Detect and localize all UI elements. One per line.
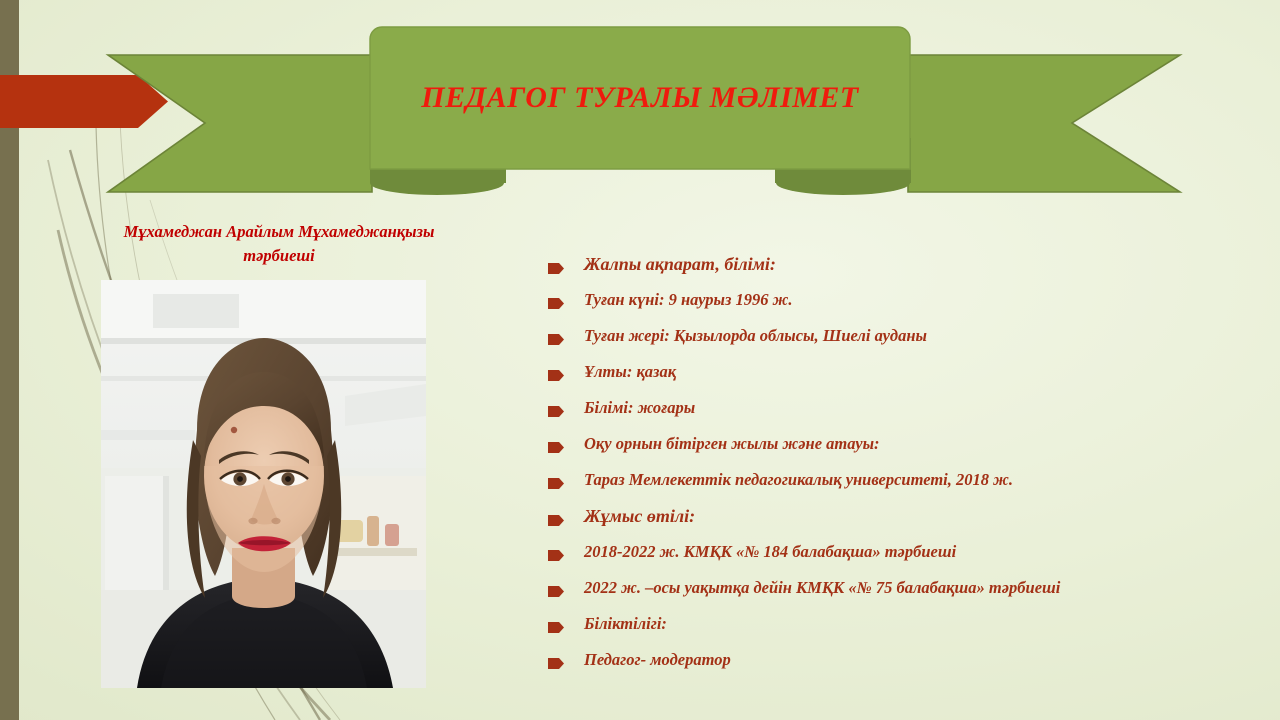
pennant-bullet-icon — [548, 622, 564, 633]
list-item-label: Туған жері: Қызылорда облысы, Шиелі ауда… — [584, 327, 927, 345]
portrait-image — [101, 280, 426, 688]
pennant-bullet-icon — [548, 515, 564, 526]
list-item-label: Ұлты: қазақ — [584, 363, 676, 381]
teacher-photo — [101, 280, 426, 688]
pennant-bullet-icon — [548, 298, 564, 309]
slide: ПЕДАГОГ ТУРАЛЫ МӘЛІМЕТ Мұхамеджан Арайлы… — [0, 0, 1280, 720]
pennant-bullet-icon — [548, 442, 564, 453]
list-item-label: Оқу орнын бітірген жылы және атауы: — [584, 435, 880, 453]
list-item-label: Туған күні: 9 наурыз 1996 ж. — [584, 291, 793, 309]
teacher-full-name: Мұхамеджан Арайлым Мұхамеджанқызы — [54, 220, 504, 244]
list-item-label: Педагог- модератор — [584, 651, 731, 669]
teacher-role: тәрбиеші — [54, 244, 504, 268]
list-item: Оқу орнын бітірген жылы және атауы: — [548, 435, 1248, 471]
list-item: Білімі: жоғары — [548, 399, 1248, 435]
list-item-label: 2018-2022 ж. КМҚК «№ 184 балабақша» тәрб… — [584, 543, 956, 561]
list-item-label: Тараз Мемлекеттік педагогикалық универси… — [584, 471, 1013, 489]
list-item: Туған күні: 9 наурыз 1996 ж. — [548, 291, 1248, 327]
pennant-bullet-icon — [548, 586, 564, 597]
list-item: Педагог- модератор — [548, 651, 1248, 687]
pennant-bullet-icon — [548, 406, 564, 417]
list-item-label: 2022 ж. –осы уақытқа дейін КМҚК «№ 75 ба… — [584, 579, 1060, 597]
pennant-bullet-icon — [548, 478, 564, 489]
pennant-bullet-icon — [548, 550, 564, 561]
pennant-bullet-icon — [548, 658, 564, 669]
list-item: Ұлты: қазақ — [548, 363, 1248, 399]
list-item: Жұмыс өтілі: — [548, 507, 1248, 543]
teacher-name-block: Мұхамеджан Арайлым Мұхамеджанқызы тәрбие… — [54, 220, 504, 268]
list-item-label: Жалпы ақпарат, білімі: — [584, 255, 776, 275]
page-title: ПЕДАГОГ ТУРАЛЫ МӘЛІМЕТ — [370, 27, 910, 169]
info-bullet-list: Жалпы ақпарат, білімі: Туған күні: 9 нау… — [548, 255, 1248, 687]
pennant-bullet-icon — [548, 334, 564, 345]
list-item: Біліктілігі: — [548, 615, 1248, 651]
list-item-label: Біліктілігі: — [584, 615, 667, 633]
pennant-bullet-icon — [548, 263, 564, 274]
list-item: 2018-2022 ж. КМҚК «№ 184 балабақша» тәрб… — [548, 543, 1248, 579]
list-item: Тараз Мемлекеттік педагогикалық универси… — [548, 471, 1248, 507]
list-item-label: Жұмыс өтілі: — [584, 507, 695, 527]
list-item: Жалпы ақпарат, білімі: — [548, 255, 1248, 291]
list-item: Туған жері: Қызылорда облысы, Шиелі ауда… — [548, 327, 1248, 363]
list-item: 2022 ж. –осы уақытқа дейін КМҚК «№ 75 ба… — [548, 579, 1248, 615]
list-item-label: Білімі: жоғары — [584, 399, 695, 417]
pennant-bullet-icon — [548, 370, 564, 381]
